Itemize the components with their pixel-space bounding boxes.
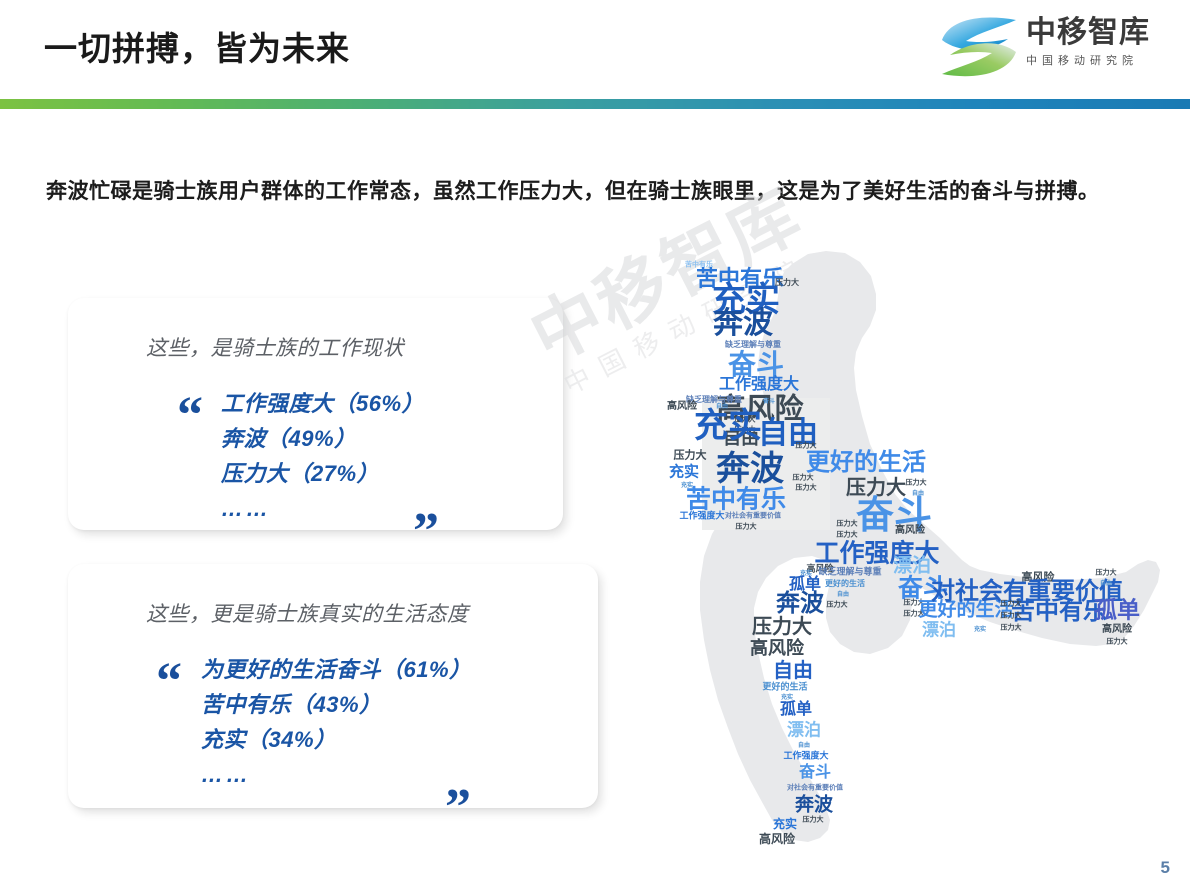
wordcloud-word: 压力大 <box>1107 639 1128 646</box>
wordcloud-word: 缺乏理解与尊重 <box>725 341 781 349</box>
quote-line: 压力大（27%） <box>221 456 424 491</box>
wordcloud-word: 充实 <box>773 818 797 830</box>
quote-ellipsis: …… <box>201 757 472 792</box>
wordcloud-word: 高风险 <box>667 402 697 412</box>
wordcloud-word: 奋斗 <box>799 765 831 781</box>
brand-logo: 中移智库 中国移动研究院 <box>936 9 1180 89</box>
wordcloud-word: 高风险 <box>895 526 925 536</box>
wordcloud-word: 高风险 <box>759 833 795 845</box>
quote-line-list: 工作强度大（56%） 奔波（49%） 压力大（27%） …… <box>221 386 424 526</box>
wordcloud-word: 压力大 <box>1001 625 1022 632</box>
wordcloud-word: 压力大 <box>1001 601 1022 608</box>
quote-ellipsis: …… <box>221 491 424 526</box>
wordcloud-word: 更好的生活 <box>806 451 926 475</box>
swoosh-logo-icon <box>936 12 1022 82</box>
slide-header: 一切拼搏，皆为未来 <box>0 0 1190 99</box>
quote-line: 苦中有乐（43%） <box>201 687 472 722</box>
slide-root: 一切拼搏，皆为未来 <box>0 0 1190 892</box>
page-number: 5 <box>1161 858 1170 878</box>
wordcloud-word: 自由 <box>1100 581 1112 587</box>
wordcloud-word: 自由 <box>773 661 813 681</box>
wordcloud-word: 苦中有乐 <box>1011 600 1107 624</box>
wordcloud-word: 压力大 <box>803 817 824 824</box>
quote-line-list: 为更好的生活奋斗（61%） 苦中有乐（43%） 充实（34%） …… <box>201 652 472 792</box>
wordcloud-word: 压力大 <box>837 521 858 528</box>
wordcloud-word: 压力大 <box>736 524 757 531</box>
wordcloud-word: 自由 <box>798 743 810 749</box>
wordcloud-word: 高风险 <box>750 639 804 657</box>
wordcloud-word: 压力大 <box>827 602 848 609</box>
wordcloud-word: 工作强度大 <box>783 752 828 761</box>
wordcloud-word: 压力大 <box>752 617 812 637</box>
wordcloud-word: 孤单 <box>1094 599 1140 622</box>
lead-paragraph: 奔波忙碌是骑士族用户群体的工作常态，虽然工作压力大，但在骑士族眼里，这是为了美好… <box>46 170 1151 214</box>
wordcloud-figure: 苦中有乐苦中有乐压力大充实奔波缺乏理解与尊重奋斗工作强度大高风险自由自由压力大压… <box>640 248 1180 848</box>
wordcloud-word: 奔波 <box>716 452 784 486</box>
wordcloud-word: 更好的生活 <box>762 683 807 692</box>
wordcloud-word: 更好的生活 <box>825 580 865 588</box>
wordcloud-word: 工作强度大 <box>679 512 724 521</box>
wordcloud-word: 奋斗 <box>763 399 775 405</box>
wordcloud-word: 奔波 <box>795 796 833 815</box>
quote-open-icon: “ <box>156 656 182 708</box>
wordcloud-word: 奔波 <box>713 309 773 339</box>
quote-line: 充实（34%） <box>201 722 472 757</box>
quote-line: 工作强度大（56%） <box>221 386 424 421</box>
wordcloud-word: 压力大 <box>1096 570 1117 577</box>
wordcloud-word: 苦中有乐 <box>686 488 786 513</box>
wordcloud-word: 充实 <box>669 465 699 480</box>
wordcloud-word: 自由 <box>837 592 849 598</box>
wordcloud-word: 奔波 <box>776 592 824 616</box>
wordcloud-word: 工作强度大 <box>719 377 799 393</box>
card-heading: 这些，是骑士族的工作现状 <box>146 332 404 362</box>
wordcloud-word: 压力大 <box>1001 613 1022 620</box>
quote-line: 为更好的生活奋斗（61%） <box>201 652 472 687</box>
logo-sub-text: 中国移动研究院 <box>1026 53 1178 69</box>
wordcloud-word: 自由 <box>716 404 728 410</box>
wordcloud-word: 充实 <box>974 627 986 633</box>
wordcloud-word: 对社会有重要价值 <box>725 513 781 520</box>
wordcloud-word: 漂泊 <box>787 722 821 739</box>
wordcloud-word: 对社会有重要价值 <box>787 785 843 792</box>
wordcloud-word: 压力大 <box>906 480 927 487</box>
logo-text-block: 中移智库 中国移动研究院 <box>1026 15 1178 69</box>
wordcloud-word: 高风险 <box>1102 625 1132 635</box>
wordcloud-word: 奋斗 <box>728 351 784 379</box>
card-heading: 这些，更是骑士族真实的生活态度 <box>146 598 469 628</box>
quote-close-icon: ” <box>413 506 439 558</box>
page-title: 一切拼搏，皆为未来 <box>44 22 350 70</box>
header-accent-bar <box>0 99 1190 109</box>
wordcloud-word: 充实 <box>694 409 762 443</box>
wordcloud-word: 孤单 <box>780 702 812 718</box>
quote-open-icon: “ <box>177 390 203 442</box>
wordcloud-word: 缺乏理解与尊重 <box>818 568 881 577</box>
quote-card-life-attitude: 这些，更是骑士族真实的生活态度 “ 为更好的生活奋斗（61%） 苦中有乐（43%… <box>68 564 598 808</box>
wordcloud-word: 漂泊 <box>893 557 931 576</box>
wordcloud-word: 漂泊 <box>922 622 956 639</box>
quote-close-icon: ” <box>445 782 471 834</box>
logo-main-text: 中移智库 <box>1026 15 1178 51</box>
quote-card-work-status: 这些，是骑士族的工作现状 “ 工作强度大（56%） 奔波（49%） 压力大（27… <box>68 298 563 530</box>
wordcloud-word: 压力大 <box>674 451 707 462</box>
quote-line: 奔波（49%） <box>221 421 424 456</box>
wordcloud-word: 压力大 <box>796 485 817 492</box>
wordcloud-word: 压力大 <box>837 532 858 539</box>
